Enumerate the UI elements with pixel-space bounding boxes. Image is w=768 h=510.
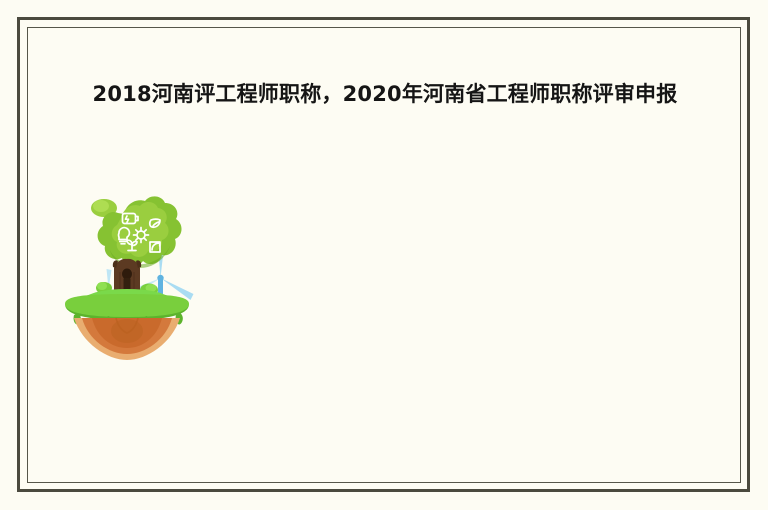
tree-house-trunk (113, 259, 141, 294)
page-title: 2018河南评工程师职称，2020年河南省工程师职称评审申报 (55, 78, 715, 111)
page-root: 2018河南评工程师职称，2020年河南省工程师职称评审申报 (0, 0, 768, 510)
page-title-container: 2018河南评工程师职称，2020年河南省工程师职称评审申报 (55, 78, 715, 111)
eco-island-illustration (52, 168, 202, 368)
soil-cone (74, 318, 180, 360)
